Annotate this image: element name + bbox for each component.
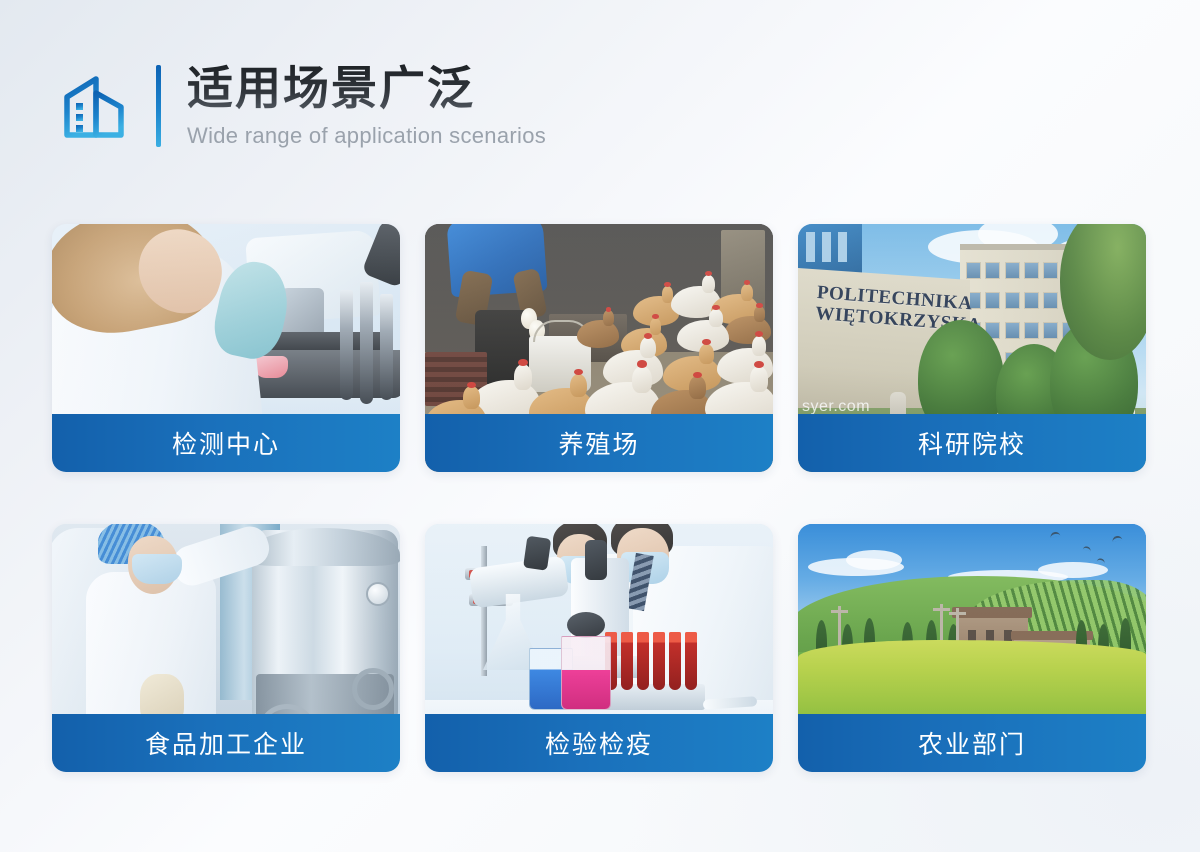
- header-divider: [156, 65, 161, 147]
- scenario-card-research-institute[interactable]: POLITECHNIKA WIĘTOKRZYSKA syer.com 素材免费下…: [798, 224, 1146, 472]
- card-label-food-processing: 食品加工企业: [52, 714, 400, 772]
- page-header: 适用场景广泛 Wide range of application scenari…: [62, 58, 546, 154]
- card-label-agriculture-department: 农业部门: [798, 714, 1146, 772]
- scenario-card-grid: 检测中心: [52, 224, 1148, 772]
- page-title: 适用场景广泛: [187, 61, 546, 117]
- header-titles: 适用场景广泛 Wide range of application scenari…: [187, 60, 546, 152]
- scenario-card-detection-center[interactable]: 检测中心: [52, 224, 400, 472]
- card-label-detection-center: 检测中心: [52, 414, 400, 472]
- scenario-card-inspection-quarantine[interactable]: 检验检疫: [425, 524, 773, 772]
- card-label-inspection-quarantine: 检验检疫: [425, 714, 773, 772]
- scenario-card-food-processing[interactable]: 食品加工企业: [52, 524, 400, 772]
- page-subtitle: Wide range of application scenarios: [187, 121, 546, 151]
- scenario-card-agriculture-department[interactable]: 农业部门: [798, 524, 1146, 772]
- card-label-research-institute: 科研院校: [798, 414, 1146, 472]
- scenario-card-breeding-farm[interactable]: 养殖场: [425, 224, 773, 472]
- building-icon: [62, 73, 130, 139]
- card-label-breeding-farm: 养殖场: [425, 414, 773, 472]
